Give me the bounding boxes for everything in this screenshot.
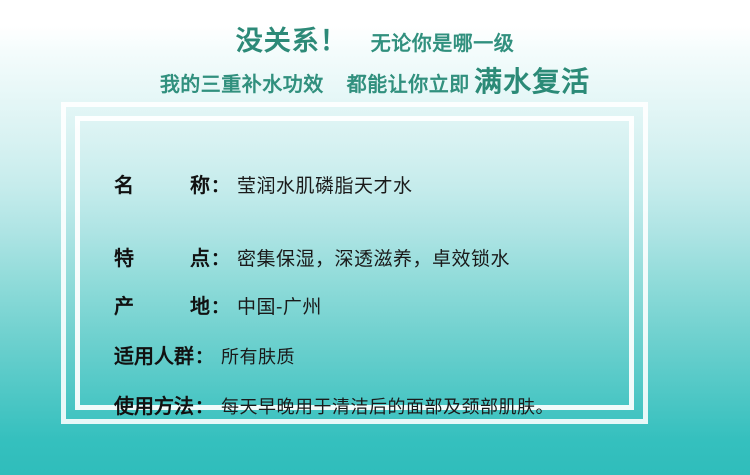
info-label-product-name: 名 称 bbox=[114, 169, 210, 198]
headline-subtext-2: 我的三重补水功效 bbox=[160, 72, 324, 96]
info-card-inner-frame: 名 称 ： 莹润水肌磷脂天才水 特 点 ： 密集保湿，深透滋养，卓效锁水 bbox=[75, 116, 634, 410]
label-char-a: 特 bbox=[114, 242, 134, 271]
info-value-product-name: 莹润水肌磷脂天才水 bbox=[231, 171, 413, 198]
info-colon-features: ： bbox=[210, 245, 231, 271]
info-row-suitable-skin: 适用人群 ： 所有肤质 bbox=[114, 340, 607, 369]
info-value-origin: 中国-广州 bbox=[231, 292, 322, 319]
headline-line-2: 我的三重补水功效 都能让你立即 满水复活 bbox=[0, 68, 750, 104]
info-label-usage: 使用方法 bbox=[114, 390, 194, 419]
label-char-b: 称 bbox=[190, 169, 210, 198]
info-label-origin: 产 地 bbox=[114, 290, 210, 319]
info-colon-origin: ： bbox=[210, 293, 231, 319]
info-value-usage: 每天早晚用于清洁后的面部及颈部肌肤。 bbox=[215, 393, 554, 419]
headline-emphasis-text: 满水复活 bbox=[474, 65, 590, 98]
info-label-features: 特 点 bbox=[114, 242, 210, 271]
info-label-suitable-skin: 适用人群 bbox=[114, 340, 194, 369]
info-row-product-name: 名 称 ： 莹润水肌磷脂天才水 bbox=[114, 169, 607, 198]
label-char-a: 产 bbox=[114, 290, 134, 319]
info-rows-container: 名 称 ： 莹润水肌磷脂天才水 特 点 ： 密集保湿，深透滋养，卓效锁水 bbox=[80, 121, 629, 405]
product-info-poster: 没关系！ 无论你是哪一级 我的三重补水功效 都能让你立即 满水复活 名 称 ： … bbox=[0, 0, 750, 475]
info-row-origin: 产 地 ： 中国-广州 bbox=[114, 290, 607, 319]
headline-exclamation-text: 没关系！ bbox=[236, 26, 348, 57]
label-char-a: 名 bbox=[114, 169, 134, 198]
headline-subtext-1: 无论你是哪一级 bbox=[371, 31, 515, 55]
info-colon-product-name: ： bbox=[210, 172, 231, 198]
info-value-features: 密集保湿，深透滋养，卓效锁水 bbox=[231, 244, 510, 271]
info-row-usage: 使用方法 ： 每天早晚用于清洁后的面部及颈部肌肤。 bbox=[114, 390, 607, 419]
label-char-b: 地 bbox=[190, 290, 210, 319]
info-card-outer-frame: 名 称 ： 莹润水肌磷脂天才水 特 点 ： 密集保湿，深透滋养，卓效锁水 bbox=[61, 102, 648, 424]
headline-line-1: 没关系！ 无论你是哪一级 bbox=[0, 28, 750, 62]
info-colon-suitable-skin: ： bbox=[194, 343, 215, 369]
headline-block: 没关系！ 无论你是哪一级 我的三重补水功效 都能让你立即 满水复活 bbox=[0, 28, 750, 104]
headline-subtext-3: 都能让你立即 bbox=[347, 72, 470, 96]
info-row-features: 特 点 ： 密集保湿，深透滋养，卓效锁水 bbox=[114, 242, 607, 271]
info-colon-usage: ： bbox=[194, 393, 215, 419]
label-char-b: 点 bbox=[190, 242, 210, 271]
info-value-suitable-skin: 所有肤质 bbox=[215, 343, 295, 369]
